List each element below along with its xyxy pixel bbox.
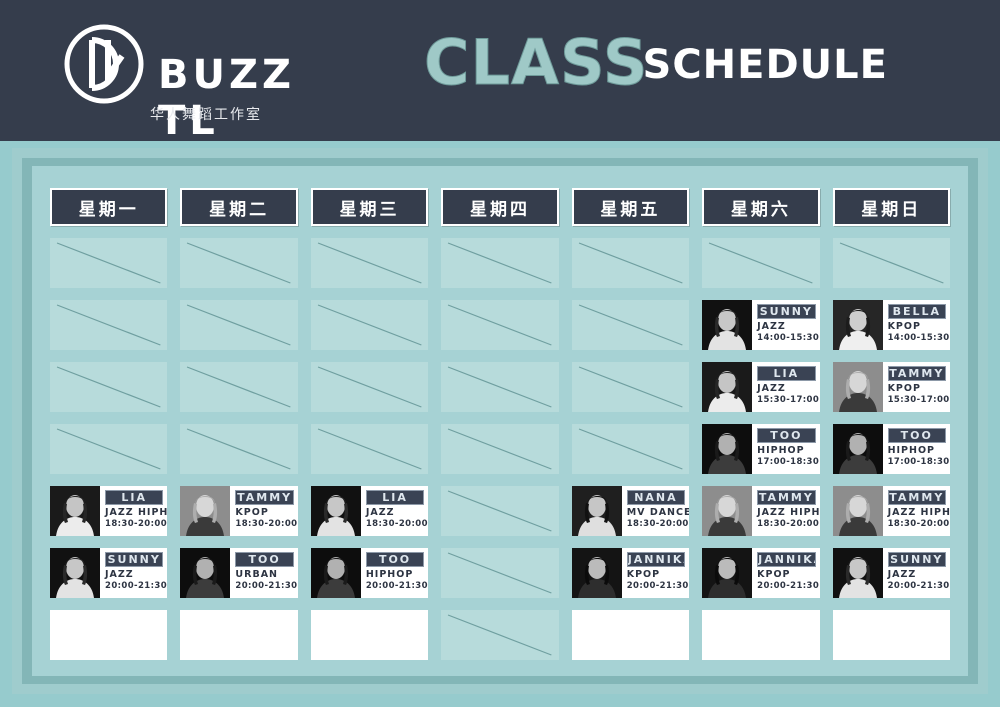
instructor-photo	[702, 424, 752, 474]
instructor-photo	[50, 486, 100, 536]
class-info: TOOHIPHOP17:00-18:30	[752, 424, 819, 474]
circle-monogram-icon	[62, 22, 146, 106]
day-header-1[interactable]: 星期一	[50, 188, 167, 226]
brand-block: BUZZ TL 华人舞蹈工作室	[62, 22, 362, 122]
class-info: SUNNYJAZZ14:00-15:30	[752, 300, 819, 350]
class-info: TOOURBAN20:00-21:30	[230, 548, 297, 598]
class-card[interactable]: LIAJAZZ18:30-20:00	[311, 486, 428, 536]
diagonal-slash-icon	[50, 362, 167, 412]
diagonal-slash-icon	[180, 424, 297, 474]
instructor-name-badge: SUNNY	[888, 552, 946, 567]
class-card[interactable]: TOOHIPHOP17:00-18:30	[702, 424, 819, 474]
class-info: TOOHIPHOP20:00-21:30	[361, 548, 428, 598]
empty-slot[interactable]	[441, 486, 558, 536]
schedule-board-frame: 星期一星期二星期三星期四星期五星期六星期日 SUNNYJAZZ14:00-15:…	[12, 148, 988, 694]
schedule-row-4: TOOHIPHOP17:00-18:30TOOHIPHOP17:00-18:30	[50, 424, 950, 474]
empty-slot[interactable]	[311, 300, 428, 350]
class-time: 18:30-20:00	[366, 519, 424, 529]
schedule-grid: SUNNYJAZZ14:00-15:30BELLAKPOP14:00-15:30…	[50, 238, 950, 660]
instructor-name-badge: BELLA	[888, 304, 946, 319]
class-genre: KPOP	[235, 507, 293, 518]
class-card[interactable]: SUNNYJAZZ20:00-21:30	[833, 548, 950, 598]
diagonal-slash-icon	[572, 362, 689, 412]
class-info: LIAJAZZ18:30-20:00	[361, 486, 428, 536]
schedule-row-5: LIAJAZZ HIPHOP18:30-20:00TAMMYKPOP18:30-…	[50, 486, 950, 536]
instructor-photo	[311, 548, 361, 598]
class-card[interactable]: SUNNYJAZZ20:00-21:30	[50, 548, 167, 598]
instructor-photo	[180, 548, 230, 598]
instructor-name-badge: LIA	[105, 490, 163, 505]
schedule-row-7	[50, 610, 950, 660]
empty-slot[interactable]	[180, 424, 297, 474]
class-info: TAMMYJAZZ HIPHOP18:30-20:00	[752, 486, 819, 536]
instructor-name-badge: TAMMY	[757, 490, 815, 505]
instructor-name-badge: LIA	[366, 490, 424, 505]
day-header-7[interactable]: 星期日	[833, 188, 950, 226]
class-card[interactable]: TOOHIPHOP20:00-21:30	[311, 548, 428, 598]
diagonal-slash-icon	[441, 362, 558, 412]
empty-slot[interactable]	[441, 424, 558, 474]
class-time: 14:00-15:30	[757, 333, 815, 343]
diagonal-slash-icon	[572, 238, 689, 288]
instructor-photo	[833, 486, 883, 536]
diagonal-slash-icon	[441, 424, 558, 474]
diagonal-slash-icon	[833, 238, 950, 288]
day-header-2[interactable]: 星期二	[180, 188, 297, 226]
instructor-name-badge: TAMMY	[888, 490, 946, 505]
blank-slot[interactable]	[50, 610, 167, 660]
brand-name: BUZZ TL	[158, 52, 362, 144]
day-header-row: 星期一星期二星期三星期四星期五星期六星期日	[50, 188, 950, 226]
class-time: 17:00-18:30	[888, 457, 946, 467]
class-genre: JAZZ	[366, 507, 424, 518]
instructor-name-badge: TOO	[888, 428, 946, 443]
diagonal-slash-icon	[441, 610, 558, 660]
empty-slot[interactable]	[311, 362, 428, 412]
instructor-photo	[311, 486, 361, 536]
instructor-name-badge: TOO	[366, 552, 424, 567]
class-time: 18:30-20:00	[888, 519, 946, 529]
instructor-name-badge: TOO	[235, 552, 293, 567]
empty-slot[interactable]	[441, 610, 558, 660]
class-info: SUNNYJAZZ20:00-21:30	[883, 548, 950, 598]
class-info: JANNIKAKPOP20:00-21:30	[752, 548, 819, 598]
class-card[interactable]: TAMMYKPOP18:30-20:00	[180, 486, 297, 536]
blank-slot[interactable]	[833, 610, 950, 660]
instructor-photo	[702, 486, 752, 536]
class-time: 17:00-18:30	[757, 457, 815, 467]
class-info: TAMMYKPOP15:30-17:00	[883, 362, 950, 412]
instructor-name-badge: TOO	[757, 428, 815, 443]
diagonal-slash-icon	[311, 424, 428, 474]
instructor-photo	[833, 300, 883, 350]
blank-slot[interactable]	[702, 610, 819, 660]
schedule-row-1	[50, 238, 950, 288]
instructor-photo	[702, 362, 752, 412]
empty-slot[interactable]	[50, 424, 167, 474]
class-genre: JAZZ HIPHOP	[105, 507, 163, 518]
class-time: 15:30-17:00	[888, 395, 946, 405]
class-card[interactable]: LIAJAZZ HIPHOP18:30-20:00	[50, 486, 167, 536]
class-time: 20:00-21:30	[888, 581, 946, 591]
instructor-name-badge: TAMMY	[888, 366, 946, 381]
empty-slot[interactable]	[833, 238, 950, 288]
diagonal-slash-icon	[180, 300, 297, 350]
brand-subtitle: 华人舞蹈工作室	[150, 104, 262, 124]
class-genre: JAZZ HIPHOP	[757, 507, 815, 518]
class-time: 20:00-21:30	[105, 581, 163, 591]
class-time: 20:00-21:30	[366, 581, 424, 591]
instructor-name-badge: NANA	[627, 490, 685, 505]
class-info: SUNNYJAZZ20:00-21:30	[100, 548, 167, 598]
class-time: 14:00-15:30	[888, 333, 946, 343]
title-primary: CLASS	[424, 34, 649, 93]
diagonal-slash-icon	[441, 238, 558, 288]
instructor-photo	[833, 362, 883, 412]
class-info: BELLAKPOP14:00-15:30	[883, 300, 950, 350]
class-card[interactable]: TAMMYKPOP15:30-17:00	[833, 362, 950, 412]
empty-slot[interactable]	[180, 362, 297, 412]
class-genre: KPOP	[888, 383, 946, 394]
class-card[interactable]: JANNIKAKPOP20:00-21:30	[702, 548, 819, 598]
class-info: LIAJAZZ HIPHOP18:30-20:00	[100, 486, 167, 536]
title-secondary: SCHEDULE	[643, 37, 888, 93]
class-genre: MV DANCE	[627, 507, 685, 518]
diagonal-slash-icon	[50, 424, 167, 474]
class-time: 18:30-20:00	[235, 519, 293, 529]
instructor-photo	[702, 548, 752, 598]
class-time: 18:30-20:00	[105, 519, 163, 529]
schedule-board-inset: 星期一星期二星期三星期四星期五星期六星期日 SUNNYJAZZ14:00-15:…	[22, 158, 978, 684]
empty-slot[interactable]	[572, 300, 689, 350]
empty-slot[interactable]	[311, 424, 428, 474]
instructor-name-badge: JANNIKA	[627, 552, 685, 567]
empty-slot[interactable]	[180, 238, 297, 288]
class-time: 20:00-21:30	[757, 581, 815, 591]
diagonal-slash-icon	[572, 424, 689, 474]
class-info: TAMMYKPOP18:30-20:00	[230, 486, 297, 536]
class-card[interactable]: SUNNYJAZZ14:00-15:30	[702, 300, 819, 350]
class-genre: JAZZ HIPHOP	[888, 507, 946, 518]
class-time: 20:00-21:30	[235, 581, 293, 591]
class-genre: KPOP	[627, 569, 685, 580]
class-info: LIAJAZZ15:30-17:00	[752, 362, 819, 412]
class-info: TOOHIPHOP17:00-18:30	[883, 424, 950, 474]
class-card[interactable]: LIAJAZZ15:30-17:00	[702, 362, 819, 412]
diagonal-slash-icon	[311, 300, 428, 350]
day-header-5[interactable]: 星期五	[572, 188, 689, 226]
diagonal-slash-icon	[180, 362, 297, 412]
diagonal-slash-icon	[441, 486, 558, 536]
instructor-photo	[702, 300, 752, 350]
class-genre: KPOP	[888, 321, 946, 332]
class-time: 18:30-20:00	[627, 519, 685, 529]
empty-slot[interactable]	[572, 424, 689, 474]
instructor-photo	[572, 548, 622, 598]
class-info: JANNIKAKPOP20:00-21:30	[622, 548, 689, 598]
blank-slot[interactable]	[180, 610, 297, 660]
diagonal-slash-icon	[702, 238, 819, 288]
class-genre: JAZZ	[888, 569, 946, 580]
schedule-board-panel: 星期一星期二星期三星期四星期五星期六星期日 SUNNYJAZZ14:00-15:…	[32, 166, 968, 676]
class-card[interactable]: TOOHIPHOP17:00-18:30	[833, 424, 950, 474]
empty-slot[interactable]	[50, 238, 167, 288]
class-genre: JAZZ	[105, 569, 163, 580]
instructor-name-badge: SUNNY	[757, 304, 815, 319]
diagonal-slash-icon	[311, 362, 428, 412]
class-genre: KPOP	[757, 569, 815, 580]
class-genre: JAZZ	[757, 321, 815, 332]
diagonal-slash-icon	[441, 300, 558, 350]
blank-slot[interactable]	[572, 610, 689, 660]
class-card[interactable]: BELLAKPOP14:00-15:30	[833, 300, 950, 350]
class-time: 15:30-17:00	[757, 395, 815, 405]
class-genre: URBAN	[235, 569, 293, 580]
class-genre: HIPHOP	[888, 445, 946, 456]
empty-slot[interactable]	[311, 238, 428, 288]
class-card[interactable]: NANAMV DANCE18:30-20:00	[572, 486, 689, 536]
class-info: TAMMYJAZZ HIPHOP18:30-20:00	[883, 486, 950, 536]
class-info: NANAMV DANCE18:30-20:00	[622, 486, 689, 536]
class-genre: HIPHOP	[366, 569, 424, 580]
instructor-name-badge: TAMMY	[235, 490, 293, 505]
empty-slot[interactable]	[441, 548, 558, 598]
class-genre: JAZZ	[757, 383, 815, 394]
class-time: 18:30-20:00	[757, 519, 815, 529]
diagonal-slash-icon	[50, 300, 167, 350]
page-header: BUZZ TL 华人舞蹈工作室 CLASS SCHEDULE	[0, 0, 1000, 141]
empty-slot[interactable]	[180, 300, 297, 350]
instructor-name-badge: SUNNY	[105, 552, 163, 567]
empty-slot[interactable]	[572, 238, 689, 288]
schedule-row-2: SUNNYJAZZ14:00-15:30BELLAKPOP14:00-15:30	[50, 300, 950, 350]
class-card[interactable]: TAMMYJAZZ HIPHOP18:30-20:00	[833, 486, 950, 536]
instructor-name-badge: LIA	[757, 366, 815, 381]
day-header-3[interactable]: 星期三	[311, 188, 428, 226]
page-title: CLASS SCHEDULE	[424, 34, 894, 93]
class-card[interactable]: TAMMYJAZZ HIPHOP18:30-20:00	[702, 486, 819, 536]
schedule-row-6: SUNNYJAZZ20:00-21:30TOOURBAN20:00-21:30T…	[50, 548, 950, 598]
empty-slot[interactable]	[702, 238, 819, 288]
instructor-photo	[572, 486, 622, 536]
blank-slot[interactable]	[311, 610, 428, 660]
day-header-6[interactable]: 星期六	[702, 188, 819, 226]
instructor-photo	[50, 548, 100, 598]
schedule-row-3: LIAJAZZ15:30-17:00TAMMYKPOP15:30-17:00	[50, 362, 950, 412]
instructor-photo	[833, 424, 883, 474]
empty-slot[interactable]	[50, 362, 167, 412]
day-header-4[interactable]: 星期四	[441, 188, 558, 226]
class-card[interactable]: JANNIKAKPOP20:00-21:30	[572, 548, 689, 598]
diagonal-slash-icon	[50, 238, 167, 288]
class-card[interactable]: TOOURBAN20:00-21:30	[180, 548, 297, 598]
class-genre: HIPHOP	[757, 445, 815, 456]
diagonal-slash-icon	[441, 548, 558, 598]
diagonal-slash-icon	[311, 238, 428, 288]
class-time: 20:00-21:30	[627, 581, 685, 591]
diagonal-slash-icon	[180, 238, 297, 288]
instructor-photo	[833, 548, 883, 598]
instructor-photo	[180, 486, 230, 536]
empty-slot[interactable]	[572, 362, 689, 412]
empty-slot[interactable]	[441, 300, 558, 350]
diagonal-slash-icon	[572, 300, 689, 350]
empty-slot[interactable]	[50, 300, 167, 350]
empty-slot[interactable]	[441, 238, 558, 288]
empty-slot[interactable]	[441, 362, 558, 412]
instructor-name-badge: JANNIKA	[757, 552, 815, 567]
